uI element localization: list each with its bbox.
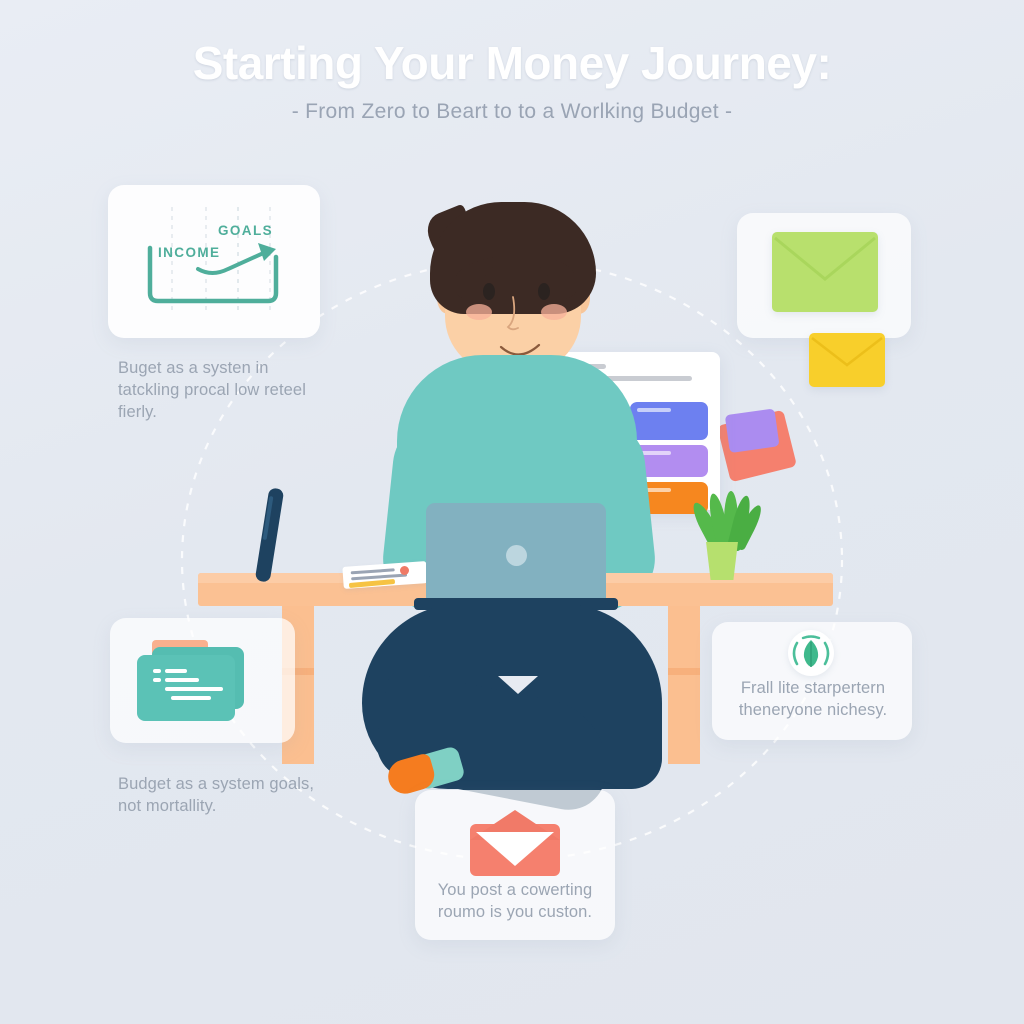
envelope-yellow-icon[interactable] — [809, 333, 885, 387]
cheek-left — [466, 304, 492, 320]
infographic-canvas: Starting Your Money Journey: - From Zero… — [0, 0, 1024, 1024]
laptop-logo-icon — [506, 545, 527, 566]
eye-left — [483, 283, 495, 300]
growth-arrow-icon — [108, 185, 320, 338]
envelope-coral-icon[interactable] — [717, 410, 797, 483]
envelope-green-icon[interactable] — [772, 232, 878, 312]
leaf-sprout-icon[interactable] — [788, 630, 834, 676]
paper-dot — [400, 566, 409, 575]
caption-right: Frall lite starpertern theneryone niches… — [718, 678, 908, 722]
chart-label-income: INCOME — [158, 245, 220, 260]
envelope-icon[interactable] — [470, 810, 560, 876]
caption-bottom-center: You post a cowerting roumo is you custon… — [424, 880, 606, 924]
page-title: Starting Your Money Journey: — [0, 36, 1024, 90]
caption-bottom-left: Budget as a system goals, not mortallity… — [118, 774, 318, 818]
tile-savings[interactable] — [630, 402, 708, 440]
chart-label-goals: GOALS — [218, 223, 273, 238]
desk-leg-right — [668, 606, 700, 764]
page-subtitle: - From Zero to Beart to to a Worlking Bu… — [0, 100, 1024, 124]
stacked-cards-icon[interactable] — [137, 655, 235, 721]
caption-top-left: Buget as a systen in tatckling procal lo… — [118, 358, 308, 423]
income-goals-card[interactable]: INCOME GOALS — [108, 185, 320, 338]
